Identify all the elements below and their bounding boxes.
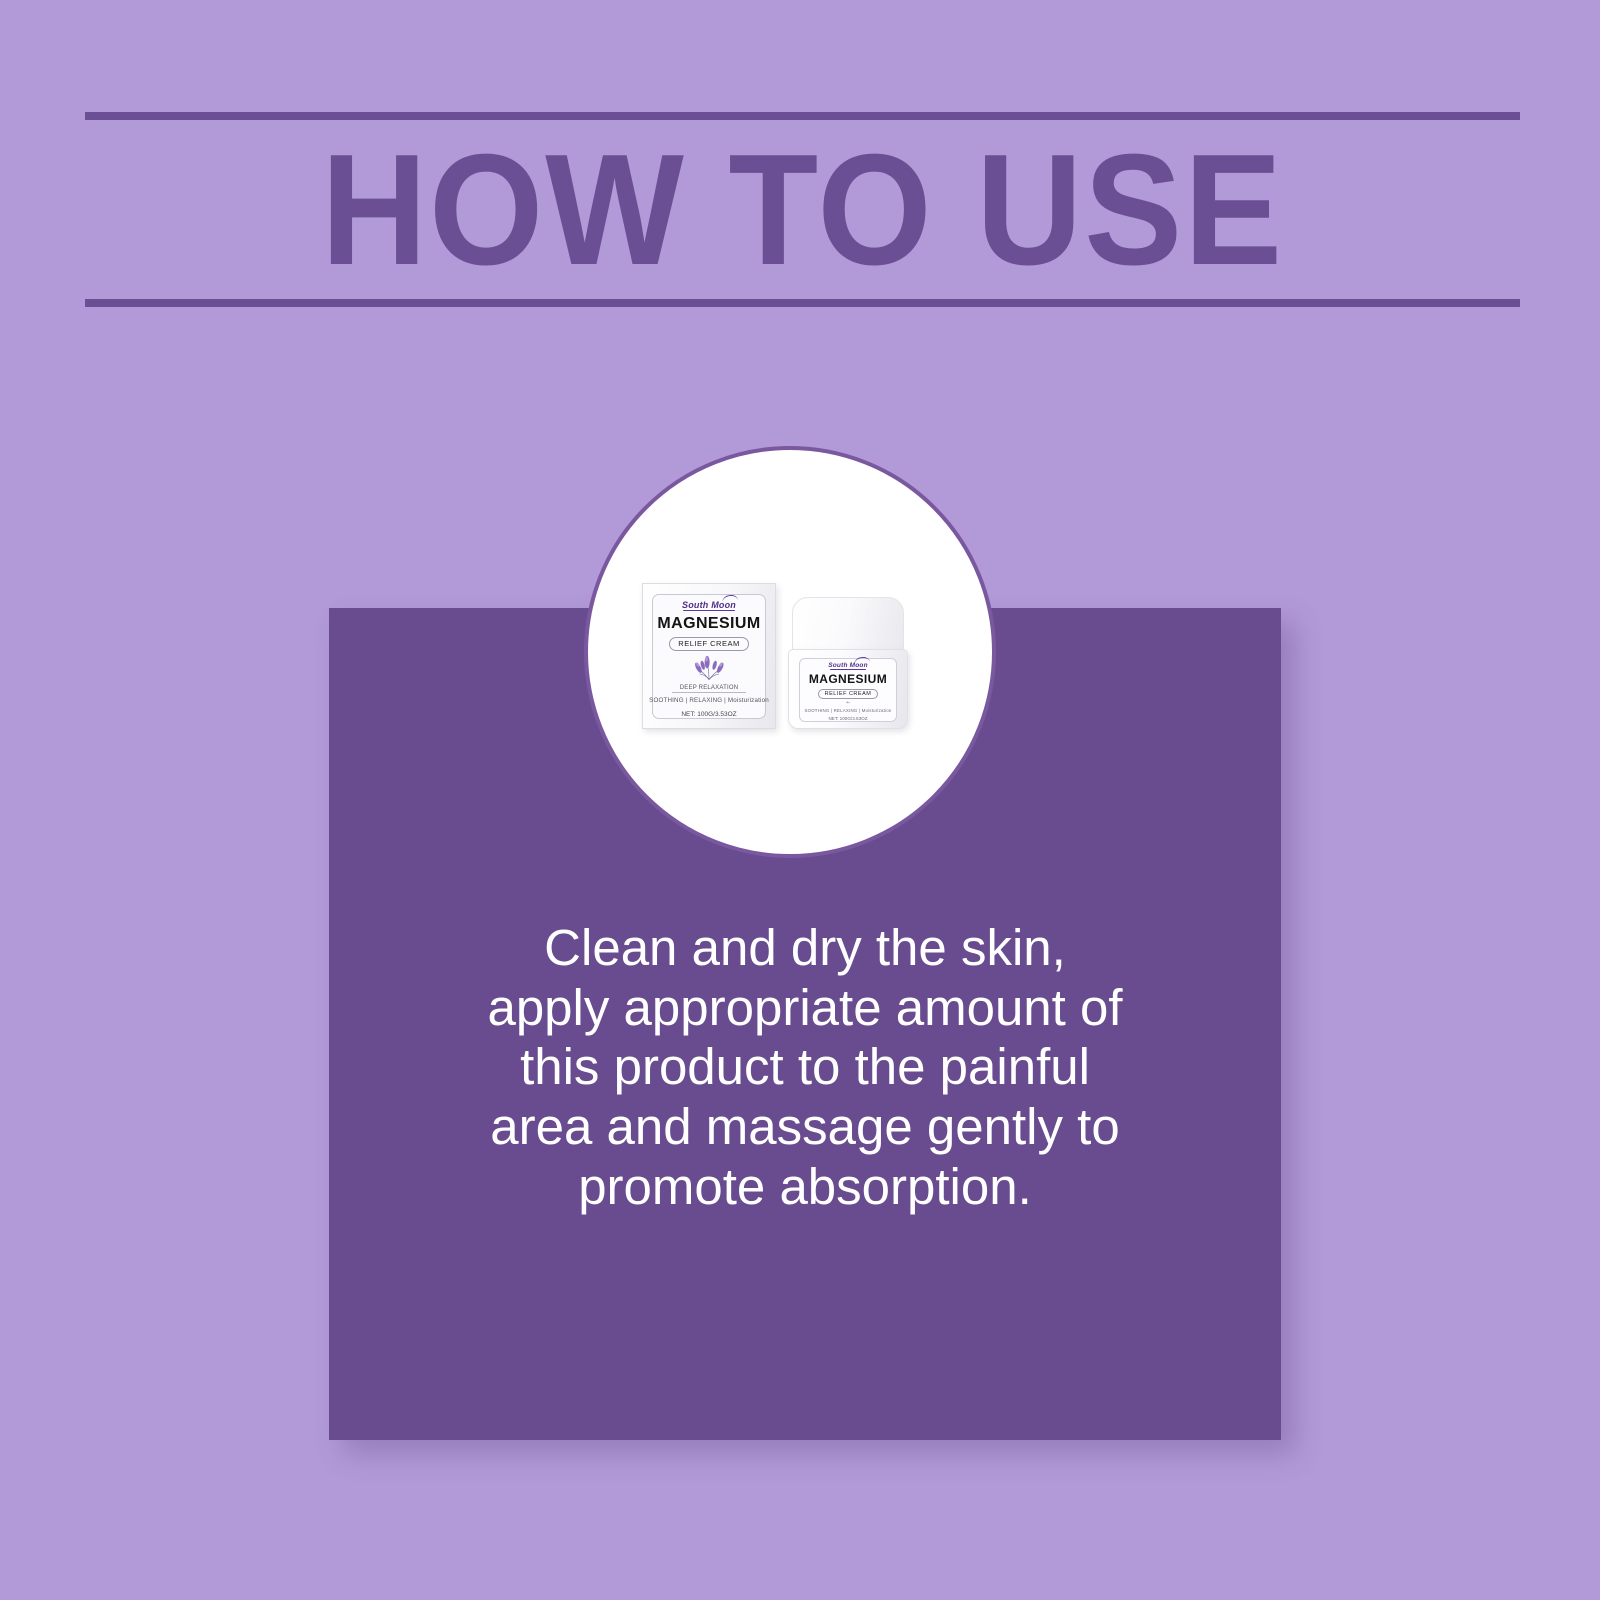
jar-body: South Moon MAGNESIUM RELIEF CREAM [788, 649, 908, 729]
title-rule-bottom [85, 299, 1520, 307]
product-carton: South Moon MAGNESIUM RELIEF CREAM [642, 583, 776, 729]
jar-lid [792, 597, 904, 653]
product-subtitle: RELIEF CREAM [818, 689, 879, 699]
brand-logo-text: South Moon [682, 600, 736, 610]
swoosh-icon [722, 594, 739, 604]
instruction-body-text: Clean and dry the skin, apply appropriat… [485, 918, 1125, 1216]
jar-claim-secondary: SOOTHING | RELAXING | Moisturization [804, 708, 891, 713]
jar-label: South Moon MAGNESIUM RELIEF CREAM [799, 658, 897, 722]
brand-logo-text: South Moon [828, 662, 868, 669]
header: HOW TO USE [85, 112, 1520, 307]
lavender-sprig-icon [673, 654, 745, 680]
product-jar: South Moon MAGNESIUM RELIEF CREAM [788, 597, 908, 729]
brand-underline [683, 610, 735, 611]
carton-claim-rule [672, 692, 746, 693]
product-name: MAGNESIUM [657, 615, 760, 633]
carton-label: South Moon MAGNESIUM RELIEF CREAM [652, 594, 766, 719]
carton-claim-secondary: SOOTHING | RELAXING | Moisturization [649, 697, 769, 704]
title-rule-top [85, 112, 1520, 120]
product-photo: South Moon MAGNESIUM RELIEF CREAM [588, 450, 996, 858]
product-name: MAGNESIUM [809, 672, 887, 686]
swoosh-icon [853, 656, 870, 666]
carton-net-weight: NET: 100G/3.53OZ [681, 711, 736, 718]
product-badge: South Moon MAGNESIUM RELIEF CREAM [584, 446, 996, 858]
page-title: HOW TO USE [135, 122, 1470, 298]
lavender-sprig-icon [823, 701, 873, 704]
carton-claim-primary: DEEP RELAXATION [680, 685, 738, 691]
product-subtitle: RELIEF CREAM [669, 637, 748, 651]
how-to-use-graphic: HOW TO USE Clean and dry the skin, apply… [0, 0, 1600, 1600]
jar-net-weight: NET: 100G/3.53OZ [828, 716, 867, 721]
